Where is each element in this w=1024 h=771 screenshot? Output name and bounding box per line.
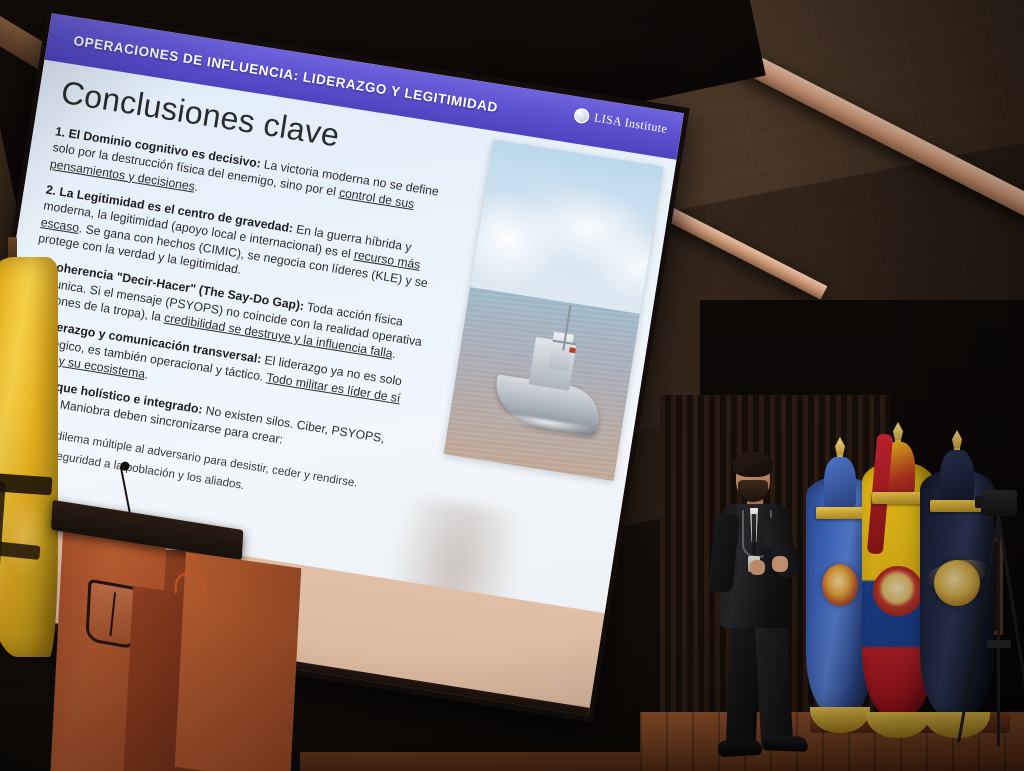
conclusion-body-tail: . <box>144 367 150 381</box>
lisa-globe-icon <box>573 107 590 124</box>
presenter-beard <box>738 480 768 502</box>
video-camera-tripod <box>975 490 1023 755</box>
tripod-collar <box>987 640 1011 648</box>
presentation-photo-scene: OPERACIONES DE INFLUENCIA: LIDERAZGO Y L… <box>0 0 1024 771</box>
flag-cloth <box>0 257 58 657</box>
video-camera-icon <box>981 490 1017 516</box>
flag-band <box>0 473 53 496</box>
flag-gold-ring <box>816 507 865 519</box>
slide-warship-photo <box>444 140 664 481</box>
presenter-hand-right <box>772 556 788 572</box>
presenter-hair <box>733 452 773 477</box>
lisa-institute-label: LISA Institute <box>593 110 668 136</box>
presenter-leg-right <box>755 619 794 748</box>
tripod-leg <box>997 516 1000 746</box>
flag-gold-ring <box>872 492 924 504</box>
warship-flag-icon <box>570 347 577 353</box>
conclusion-body-tail: . <box>194 179 200 193</box>
flag-crest-icon <box>822 564 858 606</box>
colombia-seal-icon <box>873 566 923 616</box>
conclusion-number: 1. <box>54 124 66 139</box>
photo-warship <box>491 313 613 436</box>
presenter-hand-left <box>750 560 765 575</box>
conclusion-body-tail: . <box>391 347 397 361</box>
tripod-leg <box>997 516 1024 744</box>
flag-emblem-icon <box>934 560 980 606</box>
conclusion-number: 2. <box>45 183 57 198</box>
lisa-institute-logo: LISA Institute <box>573 107 668 137</box>
slide-conclusions-list: 1. El Dominio cognitivo es decisivo: La … <box>3 123 451 522</box>
presenter-shoe-right <box>762 735 808 752</box>
presenter-shoe-left <box>718 739 763 757</box>
